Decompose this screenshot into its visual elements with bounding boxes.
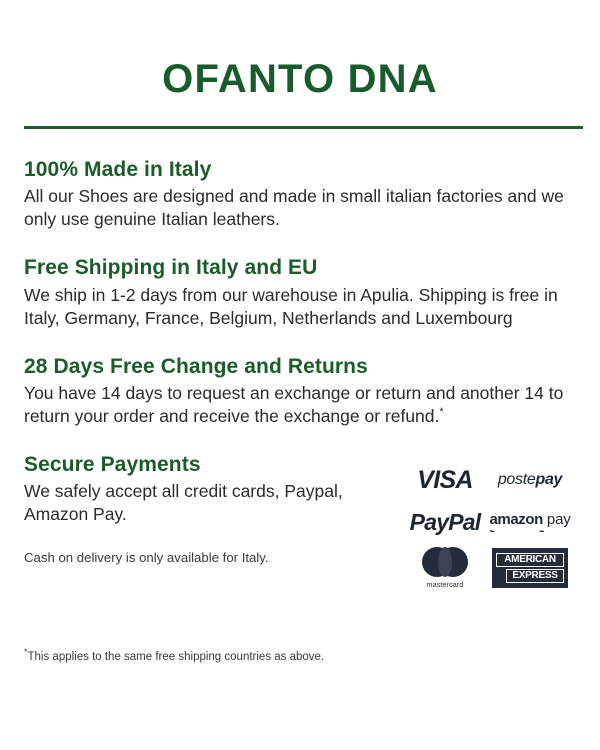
amazon-pay-logo: amazon pay — [489, 512, 570, 532]
cash-on-delivery-note: Cash on delivery is only available for I… — [24, 549, 384, 566]
payment-logo-cell-postepay: postepay — [484, 458, 576, 502]
payment-logo-cell-visa: VISA — [406, 458, 484, 502]
section-heading-returns: 28 Days Free Change and Returns — [24, 354, 576, 379]
payment-logo-cell-paypal: PayPal — [406, 502, 484, 542]
payment-logo-cell-mastercard: mastercard — [406, 542, 484, 594]
section-body-free-shipping: We ship in 1-2 days from our warehouse i… — [24, 284, 576, 330]
secure-payments-text: Secure Payments We safely accept all cre… — [24, 452, 384, 566]
postepay-logo-light-part: poste — [498, 471, 536, 488]
title-divider — [24, 126, 583, 129]
section-body-returns: You have 14 days to request an exchange … — [24, 382, 576, 428]
postepay-logo-bold-part: pay — [535, 471, 562, 488]
secure-payments-row: Secure Payments We safely accept all cre… — [24, 452, 576, 594]
returns-footnote-marker: * — [439, 406, 443, 418]
section-free-shipping: Free Shipping in Italy and EU We ship in… — [24, 255, 576, 329]
section-body-made-in-italy: All our Shoes are designed and made in s… — [24, 185, 576, 231]
section-heading-free-shipping: Free Shipping in Italy and EU — [24, 255, 576, 280]
postepay-logo: postepay — [498, 471, 562, 489]
mastercard-logo: mastercard — [422, 547, 468, 589]
payment-logo-cell-amex: AMERICAN EXPRESS — [484, 542, 576, 594]
amazon-pay-logo-suffix: pay — [543, 512, 571, 532]
mastercard-logo-label: mastercard — [427, 580, 464, 589]
american-express-logo: AMERICAN EXPRESS — [492, 548, 568, 588]
amex-logo-line-2: EXPRESS — [506, 569, 564, 583]
section-heading-made-in-italy: 100% Made in Italy — [24, 157, 576, 182]
amazon-smile-icon — [490, 525, 544, 532]
section-made-in-italy: 100% Made in Italy All our Shoes are des… — [24, 157, 576, 231]
sections-container: 100% Made in Italy All our Shoes are des… — [0, 157, 600, 594]
paypal-logo: PayPal — [410, 509, 481, 536]
page-title: OFANTO DNA — [0, 0, 600, 100]
section-secure-payments: Secure Payments We safely accept all cre… — [24, 452, 576, 594]
section-body-returns-text: You have 14 days to request an exchange … — [24, 383, 563, 426]
ofanto-dna-info-panel: OFANTO DNA 100% Made in Italy All our Sh… — [0, 0, 600, 750]
amex-logo-line-1: AMERICAN — [496, 553, 564, 567]
mastercard-overlap-shape — [438, 547, 452, 577]
mastercard-circles-icon — [422, 547, 468, 577]
page-footnote-text: This applies to the same free shipping c… — [28, 651, 325, 663]
section-returns: 28 Days Free Change and Returns You have… — [24, 354, 576, 428]
visa-logo: VISA — [417, 466, 473, 495]
amazon-pay-logo-word: amazon — [489, 512, 542, 532]
payment-logos-grid: VISA postepay PayPal amazon — [406, 458, 576, 594]
page-footnote: *This applies to the same free shipping … — [0, 650, 348, 665]
payment-logo-cell-amazonpay: amazon pay — [484, 502, 576, 542]
section-heading-secure-payments: Secure Payments — [24, 452, 384, 477]
section-body-secure-payments: We safely accept all credit cards, Paypa… — [24, 480, 384, 526]
